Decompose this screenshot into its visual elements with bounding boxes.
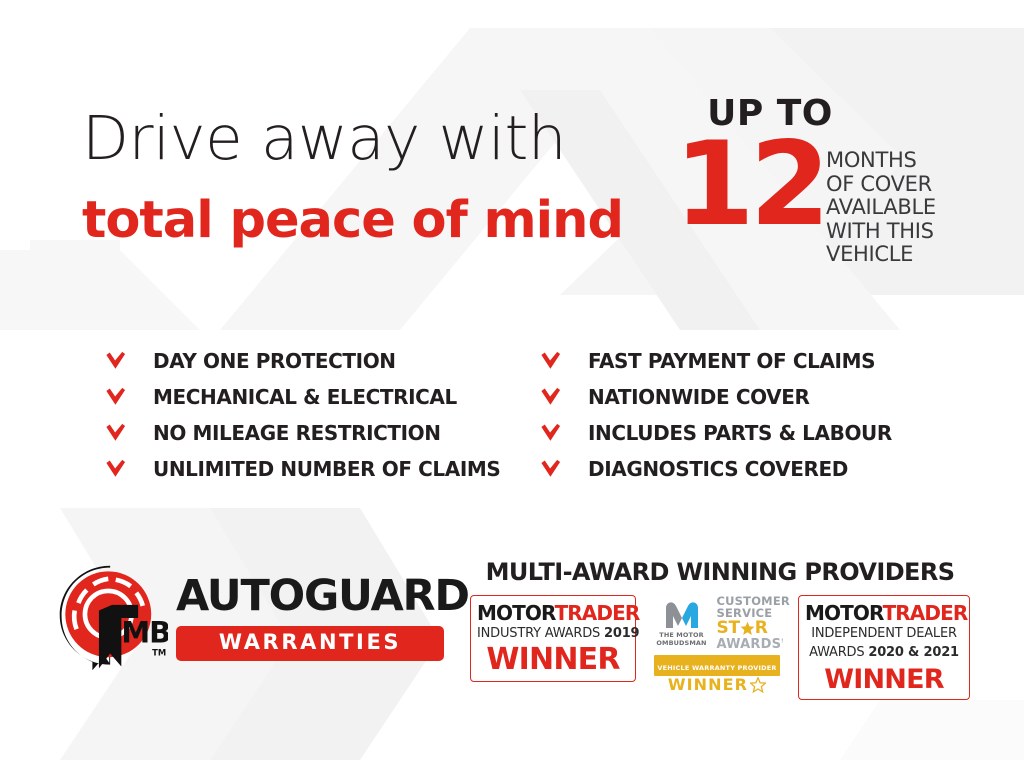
ombudsman-m-icon xyxy=(664,599,700,629)
feature-label: DIAGNOSTICS COVERED xyxy=(588,457,848,481)
promo-banner: Drive away with total peace of mind UP T… xyxy=(0,0,1024,768)
award-badge-subtitle: INDUSTRY AWARDS 2019 xyxy=(477,627,629,642)
feature-item: NATIONWIDE COVER xyxy=(539,379,924,414)
feature-item: FAST PAYMENT OF CLAIMS xyxy=(539,343,924,378)
motortrader-brand: MOTORTRADER xyxy=(477,603,629,623)
autoguard-logo: MBi TM AUTOGUARD WARRANTIES xyxy=(56,562,444,674)
feature-label: NATIONWIDE COVER xyxy=(588,385,810,409)
svg-text:TM: TM xyxy=(152,647,166,657)
svg-text:MBi: MBi xyxy=(121,615,168,649)
feature-label: MECHANICAL & ELECTRICAL xyxy=(153,385,457,409)
motortrader-brand-motor: MOTOR xyxy=(805,601,883,625)
check-icon xyxy=(104,457,127,480)
cover-detail-line-4: WITH THIS xyxy=(826,220,936,244)
award-badge-motortrader-2020-2021: MOTORTRADER INDEPENDENT DEALER AWARDS 20… xyxy=(798,595,970,700)
feature-label: INCLUDES PARTS & LABOUR xyxy=(588,421,892,445)
feature-item: UNLIMITED NUMBER OF CLAIMS xyxy=(104,451,539,486)
feature-label: NO MILEAGE RESTRICTION xyxy=(153,421,441,445)
ombudsman-label-line-2: OMBUDSMAN xyxy=(652,639,712,647)
mbi-logo-icon: MBi TM xyxy=(56,562,168,674)
award-badge-winner: WINNER xyxy=(477,645,629,675)
check-icon xyxy=(539,385,562,408)
ombudsman-label: THE MOTOR OMBUDSMAN xyxy=(652,631,712,647)
cover-duration-block: UP TO 12 MONTHS OF COVER AVAILABLE WITH … xyxy=(672,96,972,267)
feature-item: MECHANICAL & ELECTRICAL xyxy=(104,379,539,414)
award-badge-year: 2019 xyxy=(604,626,639,641)
award-badge-subtitle-text: INDUSTRY AWARDS xyxy=(477,626,604,641)
feature-label: UNLIMITED NUMBER OF CLAIMS xyxy=(153,457,500,481)
awards-row: MOTORTRADER INDUSTRY AWARDS 2019 WINNER xyxy=(470,595,970,700)
cssa-awards-line: AWARDS! xyxy=(717,638,783,652)
headline-block: Drive away with total peace of mind xyxy=(82,108,662,246)
award-badge-motortrader-2019: MOTORTRADER INDUSTRY AWARDS 2019 WINNER xyxy=(470,595,636,682)
feature-column-left: DAY ONE PROTECTION MECHANICAL & ELECTRIC… xyxy=(104,343,539,487)
vehicle-warranty-provider-ribbon: VEHICLE WARRANTY PROVIDER WINNER xyxy=(654,655,780,693)
award-badge-subtitle-line-2: AWARDS 2020 & 2021 xyxy=(805,646,963,661)
award-badge-winner: WINNER xyxy=(805,666,963,693)
award-badge-cs-star-awards: THE MOTOR OMBUDSMAN CUSTOMER SERVICE ST xyxy=(651,595,783,693)
feature-item: INCLUDES PARTS & LABOUR xyxy=(539,415,924,450)
check-icon xyxy=(104,385,127,408)
customer-service-star-awards-logo: CUSTOMER SERVICE ST R AWARDS! xyxy=(717,595,783,651)
ribbon-top-label: VEHICLE WARRANTY PROVIDER xyxy=(657,664,776,672)
check-icon xyxy=(539,457,562,480)
feature-list: DAY ONE PROTECTION MECHANICAL & ELECTRIC… xyxy=(104,343,924,487)
star-outline-icon xyxy=(750,677,766,693)
headline-line-2: total peace of mind xyxy=(82,195,662,246)
ombudsman-label-line-1: THE MOTOR xyxy=(652,631,712,639)
cssa-star-pre: ST xyxy=(717,620,740,638)
motortrader-brand-motor: MOTOR xyxy=(477,601,555,625)
cover-detail-lines: MONTHS OF COVER AVAILABLE WITH THIS VEHI… xyxy=(826,149,936,267)
cover-detail-line-3: AVAILABLE xyxy=(826,196,936,220)
check-icon xyxy=(539,349,562,372)
cssa-awards-sup: ! xyxy=(781,638,783,644)
ribbon-winner-row: WINNER xyxy=(654,677,780,693)
awards-heading: MULTI-AWARD WINNING PROVIDERS xyxy=(470,560,970,584)
feature-label: FAST PAYMENT OF CLAIMS xyxy=(588,349,875,373)
cssa-awards-text: AWARDS xyxy=(717,637,782,652)
motortrader-brand-trader: TRADER xyxy=(883,601,968,625)
cover-detail-line-5: VEHICLE xyxy=(826,243,936,267)
award-badge-subtitle-line-1: INDEPENDENT DEALER xyxy=(805,627,963,642)
cssa-star-line: ST R xyxy=(717,620,783,638)
cover-months-number: 12 xyxy=(674,136,830,235)
ribbon-winner-label: WINNER xyxy=(668,677,748,693)
award-badge-years: 2020 & 2021 xyxy=(868,645,959,660)
motortrader-brand: MOTORTRADER xyxy=(805,603,963,623)
feature-label: DAY ONE PROTECTION xyxy=(153,349,396,373)
star-icon xyxy=(740,621,755,636)
cssa-star-post: R xyxy=(755,620,768,638)
warranties-bar: WARRANTIES xyxy=(176,626,444,661)
feature-item: NO MILEAGE RESTRICTION xyxy=(104,415,539,450)
headline-line-1: Drive away with xyxy=(82,108,662,169)
autoguard-wordmark: AUTOGUARD WARRANTIES xyxy=(176,575,444,661)
motor-ombudsman-logo: THE MOTOR OMBUDSMAN xyxy=(652,599,712,647)
feature-item: DAY ONE PROTECTION xyxy=(104,343,539,378)
warranties-label: WARRANTIES xyxy=(219,630,401,654)
check-icon xyxy=(104,349,127,372)
autoguard-wordmark-text: AUTOGUARD xyxy=(176,575,444,618)
motortrader-brand-trader: TRADER xyxy=(555,601,640,625)
award-badge-subtitle-text: AWARDS xyxy=(809,645,868,660)
ribbon-strip: VEHICLE WARRANTY PROVIDER xyxy=(654,655,780,676)
cover-detail-line-2: OF COVER xyxy=(826,173,936,197)
check-icon xyxy=(539,421,562,444)
awards-section: MULTI-AWARD WINNING PROVIDERS MOTORTRADE… xyxy=(470,560,970,700)
check-icon xyxy=(104,421,127,444)
feature-column-right: FAST PAYMENT OF CLAIMS NATIONWIDE COVER … xyxy=(539,343,924,487)
feature-item: DIAGNOSTICS COVERED xyxy=(539,451,924,486)
cover-detail-line-1: MONTHS xyxy=(826,149,936,173)
